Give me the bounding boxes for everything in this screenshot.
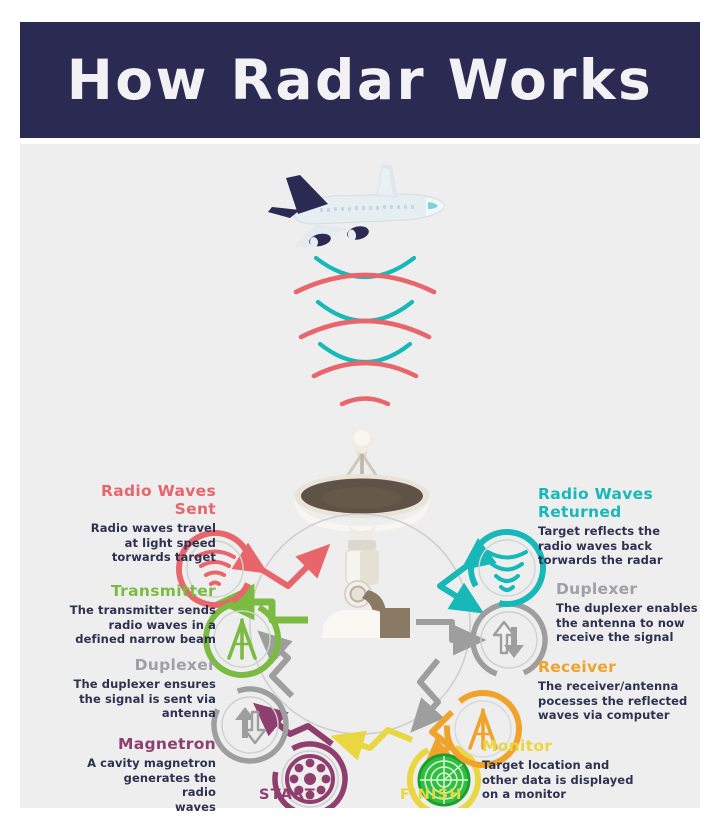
body-monitor: Target location and other data is displa… [482,758,657,802]
arrow-duplexer-to-receiver-upper [420,660,438,722]
heading-transmitter: Transmitter [10,582,216,600]
arrow-duplexer-to-transmitter [268,640,292,696]
heading-radio-waves-sent: Radio Waves Sent [26,482,216,518]
label-radio-waves-sent: Radio Waves Sent Radio waves travel at l… [26,482,216,565]
body-duplexer-send: The duplexer ensures the signal is sent … [16,677,216,721]
finish-marker: FINISH [400,787,463,803]
label-transmitter: Transmitter The transmitter sends radio … [10,582,216,647]
label-monitor: Monitor Target location and other data i… [482,737,657,802]
label-receiver: Receiver The receiver/antenna pocesses t… [538,658,718,723]
body-transmitter: The transmitter sends radio waves in a d… [10,603,216,647]
arrow-waves-returned-to-duplexer [416,622,472,640]
up-down-arrows-icon [235,707,265,743]
body-radio-waves-returned: Target reflects the radio waves back tor… [538,524,716,568]
body-magnetron: A cavity magnetron generates the radio w… [86,756,216,814]
body-radio-waves-sent: Radio waves travel at light speed torwar… [26,521,216,565]
body-duplexer-receive: The duplexer enables the antenna to now … [556,601,716,645]
wifi-waves-down-icon [488,552,526,590]
up-down-arrows-icon [494,622,524,658]
heading-magnetron: Magnetron [86,735,216,753]
arrow-waves-sent-to-target [256,554,320,586]
heading-monitor: Monitor [482,737,657,755]
body-receiver: The receiver/antenna pocesses the reflec… [538,679,718,723]
label-magnetron: Magnetron A cavity magnetron generates t… [86,735,216,814]
label-radio-waves-returned: Radio Waves Returned Target reflects the… [538,485,716,568]
heading-radio-waves-returned: Radio Waves Returned [538,485,716,521]
page-title: How Radar Works [67,48,653,112]
header-banner: How Radar Works [20,22,700,138]
heading-duplexer-send: Duplexer [16,656,216,674]
label-duplexer-send: Duplexer The duplexer ensures the signal… [16,656,216,721]
start-marker: START [259,787,316,803]
heading-receiver: Receiver [538,658,718,676]
infographic-poster: How Radar Works [0,0,720,828]
heading-duplexer-receive: Duplexer [556,580,716,598]
label-duplexer-receive: Duplexer The duplexer enables the antenn… [556,580,716,645]
radio-wave-arcs [290,252,440,422]
airplane-icon [256,154,456,254]
